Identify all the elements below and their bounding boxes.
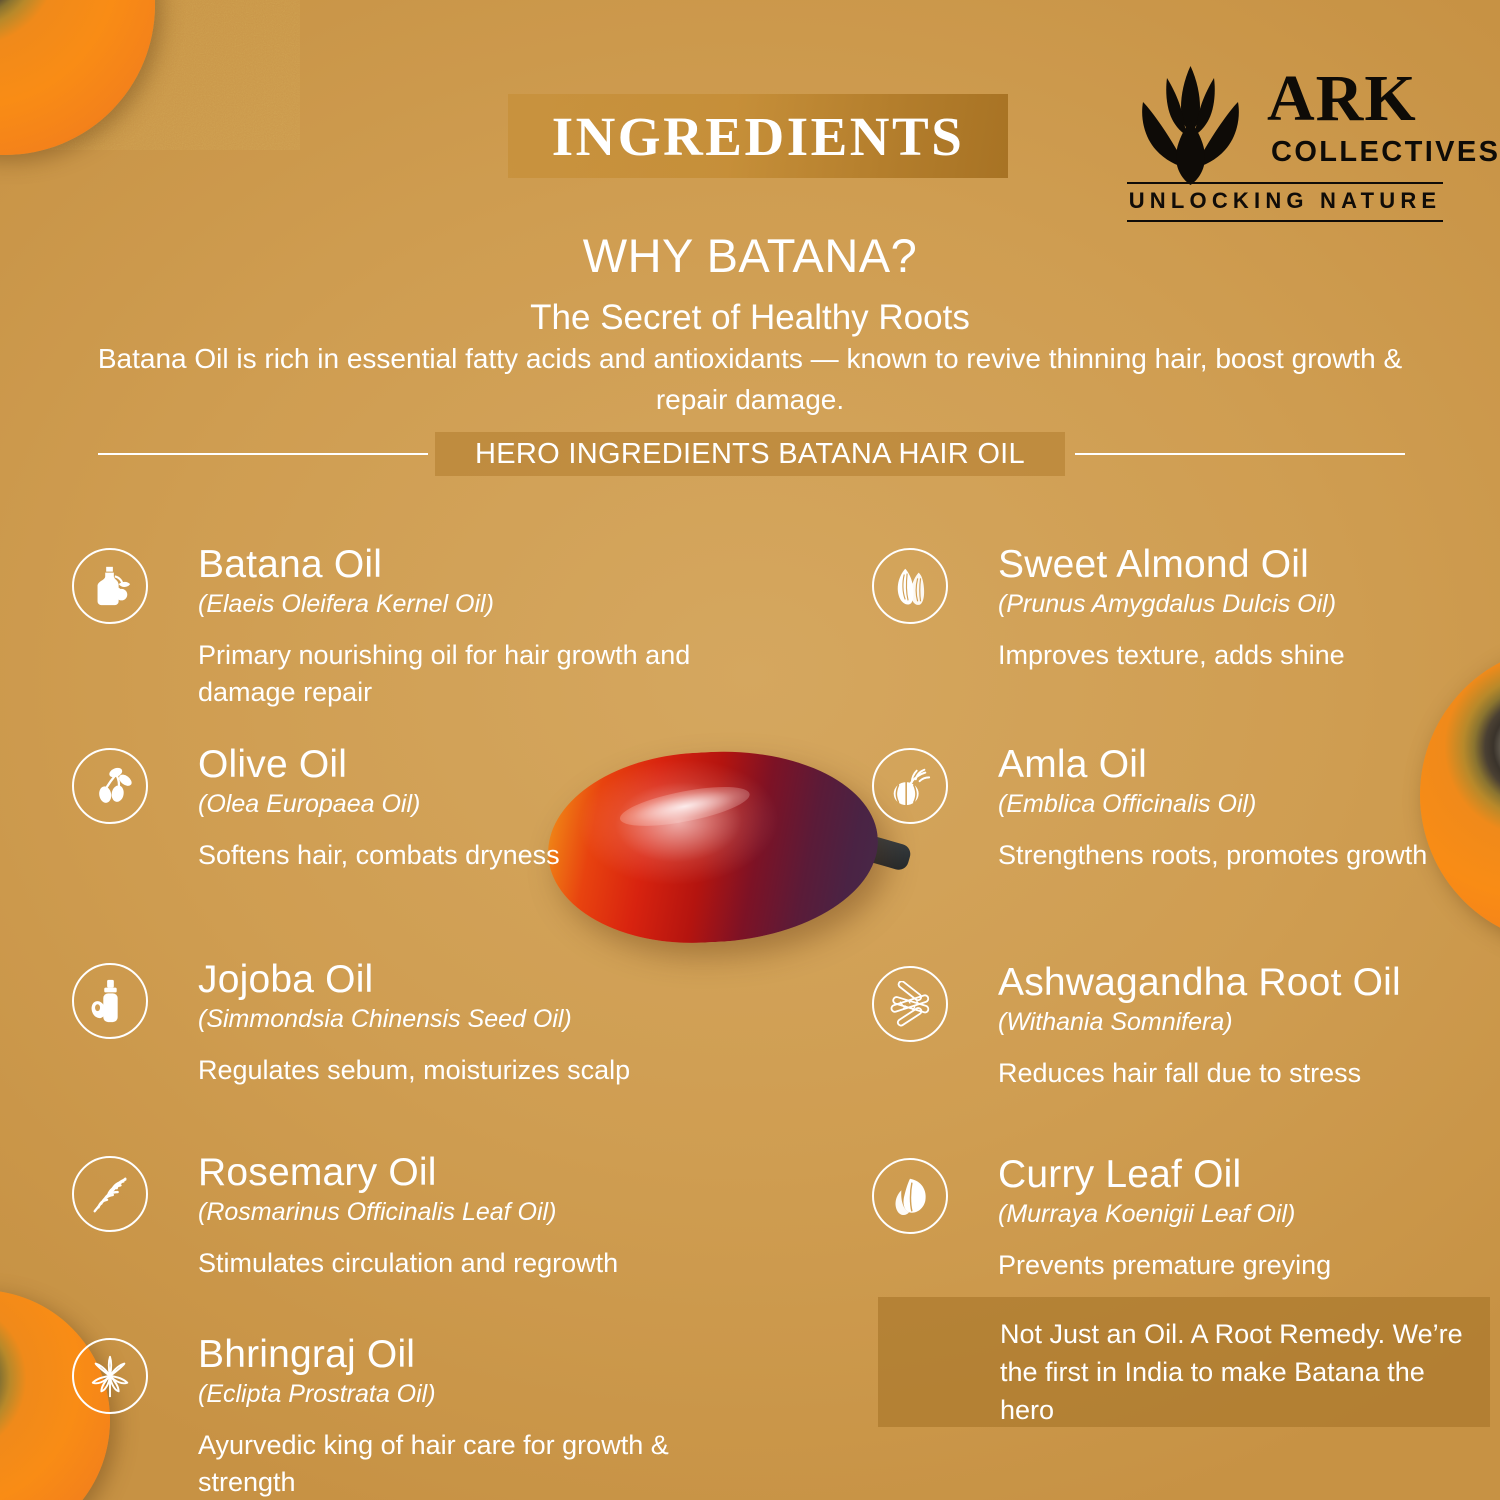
ingredient-latin-name: (Murraya Koenigii Leaf Oil): [998, 1199, 1500, 1230]
ingredient-latin-name: (Simmondsia Chinensis Seed Oil): [198, 1004, 718, 1035]
ingredient-name: Sweet Almond Oil: [998, 542, 1500, 588]
ingredient-latin-name: (Rosmarinus Officinalis Leaf Oil): [198, 1197, 718, 1228]
ingredient-name: Curry Leaf Oil: [998, 1152, 1500, 1198]
hero-divider-line-right: [1075, 453, 1405, 455]
ingredient-description: Ayurvedic king of hair care for growth &…: [198, 1427, 718, 1500]
logo-tagline: UNLOCKING NATURE: [1127, 188, 1443, 214]
ingredient-description: Softens hair, combats dryness: [198, 837, 718, 874]
curry-leaf-icon: [872, 1158, 948, 1234]
grain-texture: [0, 0, 300, 150]
ingredient-name: Batana Oil: [198, 542, 718, 588]
hero-divider-line-left: [98, 453, 428, 455]
ingredient-text-block: Jojoba Oil(Simmondsia Chinensis Seed Oil…: [198, 957, 718, 1089]
ingredient-text-block: Bhringraj Oil(Eclipta Prostrata Oil)Ayur…: [198, 1332, 718, 1500]
dropper-bottle-icon: [72, 963, 148, 1039]
logo-divider-top: [1127, 182, 1443, 184]
page-subheading: The Secret of Healthy Roots: [0, 298, 1500, 338]
almonds-icon: [872, 548, 948, 624]
ingredient-text-block: Amla Oil(Emblica Officinalis Oil)Strengt…: [998, 742, 1500, 874]
ingredient-text-block: Sweet Almond Oil(Prunus Amygdalus Dulcis…: [998, 542, 1500, 674]
ingredient-text-block: Batana Oil(Elaeis Oleifera Kernel Oil)Pr…: [198, 542, 718, 711]
ingredient-name: Bhringraj Oil: [198, 1332, 718, 1378]
ingredient-description: Stimulates circulation and regrowth: [198, 1245, 718, 1282]
ingredient-description: Strengthens roots, promotes growth: [998, 837, 1500, 874]
ingredient-text-block: Rosemary Oil(Rosmarinus Officinalis Leaf…: [198, 1150, 718, 1282]
poster-canvas: INGREDIENTS ARK COLLECTIVES UNLOCKING NA…: [0, 0, 1500, 1500]
ingredients-banner-title: INGREDIENTS: [508, 96, 1008, 176]
callout-text: Not Just an Oil. A Root Remedy. We’re th…: [1000, 1315, 1480, 1429]
ingredient-description: Reduces hair fall due to stress: [998, 1055, 1500, 1092]
lotus-icon: [1123, 62, 1258, 192]
ingredient-latin-name: (Eclipta Prostrata Oil): [198, 1379, 718, 1410]
ingredient-name: Jojoba Oil: [198, 957, 718, 1003]
ingredient-name: Amla Oil: [998, 742, 1500, 788]
logo-ark-text: ARK: [1267, 66, 1417, 132]
ingredient-latin-name: (Withania Somnifera): [998, 1007, 1500, 1038]
ingredient-latin-name: (Elaeis Oleifera Kernel Oil): [198, 589, 718, 620]
rosemary-sprig-icon: [72, 1156, 148, 1232]
hero-divider-label: HERO INGREDIENTS BATANA HAIR OIL: [435, 432, 1065, 476]
page-heading: WHY BATANA?: [0, 228, 1500, 283]
logo-divider-bottom: [1127, 220, 1443, 222]
ingredient-description: Regulates sebum, moisturizes scalp: [198, 1052, 718, 1089]
ingredient-name: Olive Oil: [198, 742, 718, 788]
ingredient-text-block: Ashwagandha Root Oil(Withania Somnifera)…: [998, 960, 1500, 1092]
ingredient-name: Rosemary Oil: [198, 1150, 718, 1196]
intro-description: Batana Oil is rich in essential fatty ac…: [85, 338, 1415, 420]
ingredient-latin-name: (Emblica Officinalis Oil): [998, 789, 1500, 820]
ingredient-description: Prevents premature greying: [998, 1247, 1500, 1284]
corner-fruit-top-left: [0, 0, 155, 155]
brand-logo: ARK COLLECTIVES UNLOCKING NATURE: [1115, 60, 1445, 235]
logo-collectives-text: COLLECTIVES: [1271, 138, 1500, 167]
roots-bundle-icon: [872, 966, 948, 1042]
flower-icon: [72, 1338, 148, 1414]
ingredient-text-block: Curry Leaf Oil(Murraya Koenigii Leaf Oil…: [998, 1152, 1500, 1284]
ingredient-description: Primary nourishing oil for hair growth a…: [198, 637, 718, 711]
ingredient-description: Improves texture, adds shine: [998, 637, 1500, 674]
olive-branch-icon: [72, 748, 148, 824]
ingredient-name: Ashwagandha Root Oil: [998, 960, 1500, 1006]
oil-bottle-icon: [72, 548, 148, 624]
ingredient-text-block: Olive Oil(Olea Europaea Oil)Softens hair…: [198, 742, 718, 874]
ingredient-latin-name: (Olea Europaea Oil): [198, 789, 718, 820]
ingredient-latin-name: (Prunus Amygdalus Dulcis Oil): [998, 589, 1500, 620]
amla-berry-icon: [872, 748, 948, 824]
